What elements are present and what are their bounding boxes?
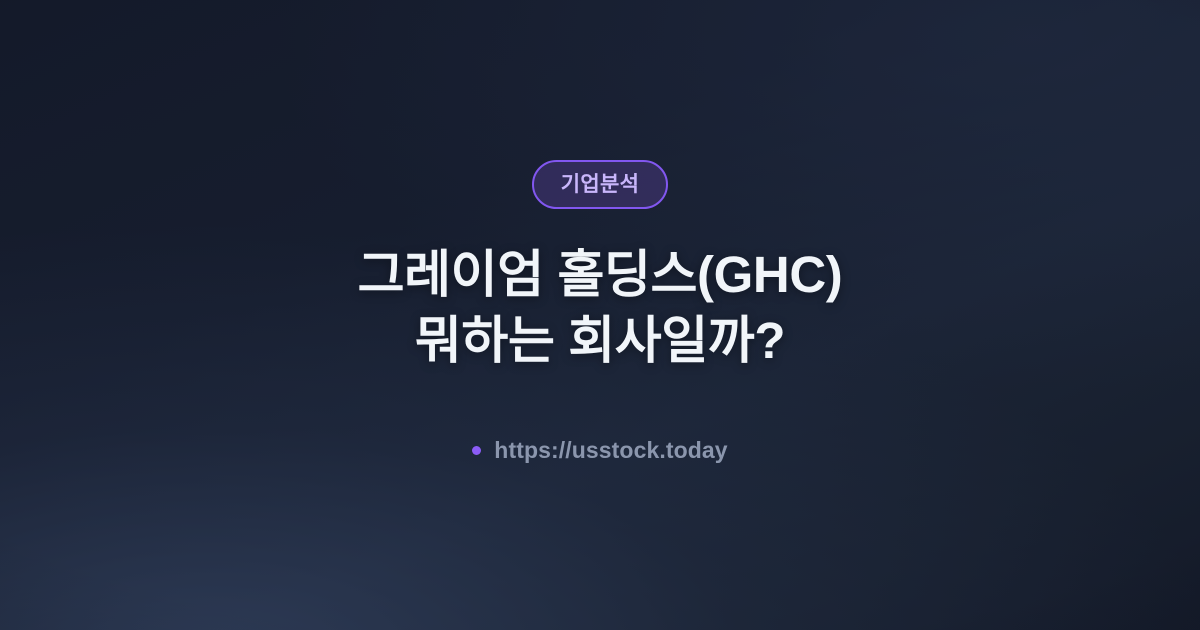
category-badge: 기업분석 <box>532 160 668 209</box>
og-share-card: 기업분석 그레이엄 홀딩스(GHC) 뭐하는 회사일까? https://uss… <box>0 0 1200 630</box>
site-url-row: https://usstock.today <box>472 439 727 462</box>
page-title-line-2: 뭐하는 회사일까? <box>358 308 843 374</box>
category-badge-label: 기업분석 <box>561 174 639 195</box>
site-url-text: https://usstock.today <box>494 439 727 462</box>
page-title-line-1: 그레이엄 홀딩스(GHC) <box>358 242 843 308</box>
card-content-stack: 기업분석 그레이엄 홀딩스(GHC) 뭐하는 회사일까? https://uss… <box>0 160 1200 462</box>
page-title: 그레이엄 홀딩스(GHC) 뭐하는 회사일까? <box>358 242 843 375</box>
bullet-dot-icon <box>472 446 481 455</box>
